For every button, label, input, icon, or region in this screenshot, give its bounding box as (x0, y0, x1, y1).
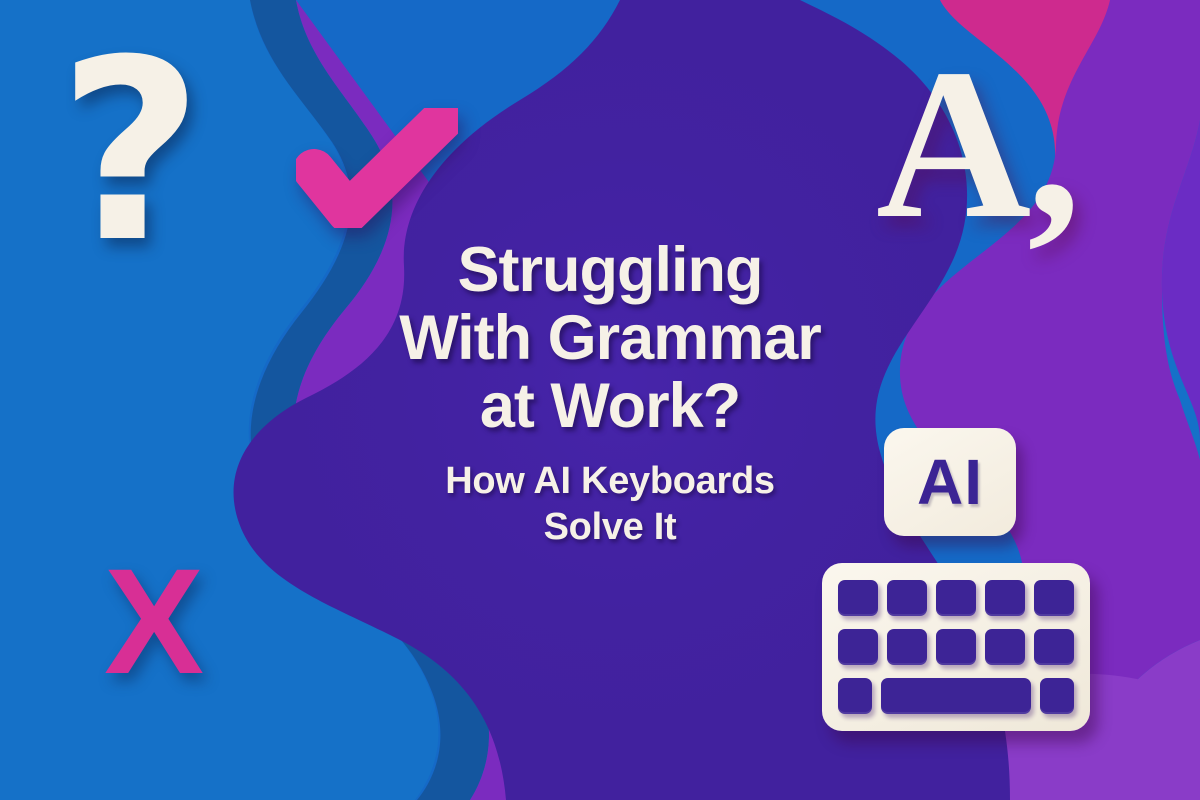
question-mark-icon: ? (58, 52, 188, 267)
headline-line-1: Struggling (20, 236, 1200, 304)
keyboard-row-1 (838, 580, 1074, 616)
keyboard-icon (822, 563, 1090, 731)
keyboard-key (887, 629, 927, 665)
headline-line-3: at Work? (20, 372, 1200, 440)
keyboard-row-2 (838, 629, 1074, 665)
keyboard-key (887, 580, 927, 616)
keyboard-key (985, 629, 1025, 665)
poster-copy: Struggling With Grammar at Work? How AI … (0, 236, 1200, 551)
keyboard-key (1034, 629, 1074, 665)
poster-canvas: ? A, X AI (0, 0, 1200, 800)
subhead-line-2: Solve It (20, 504, 1200, 550)
keyboard-key-modifier (838, 678, 872, 714)
keyboard-key-modifier (1040, 678, 1074, 714)
keyboard-key (838, 580, 878, 616)
page-subtitle: How AI Keyboards Solve It (20, 458, 1200, 551)
subhead-line-1: How AI Keyboards (20, 458, 1200, 504)
keyboard-key (936, 629, 976, 665)
check-mark-icon (296, 108, 458, 228)
keyboard-key (985, 580, 1025, 616)
keyboard-key (838, 629, 878, 665)
letter-x-icon: X (104, 546, 204, 696)
keyboard-key (936, 580, 976, 616)
keyboard-key-space (881, 678, 1031, 714)
letter-a-comma-icon: A, (876, 36, 1077, 251)
page-title: Struggling With Grammar at Work? (20, 236, 1200, 440)
keyboard-key (1034, 580, 1074, 616)
keyboard-row-3 (838, 678, 1074, 714)
headline-line-2: With Grammar (20, 304, 1200, 372)
